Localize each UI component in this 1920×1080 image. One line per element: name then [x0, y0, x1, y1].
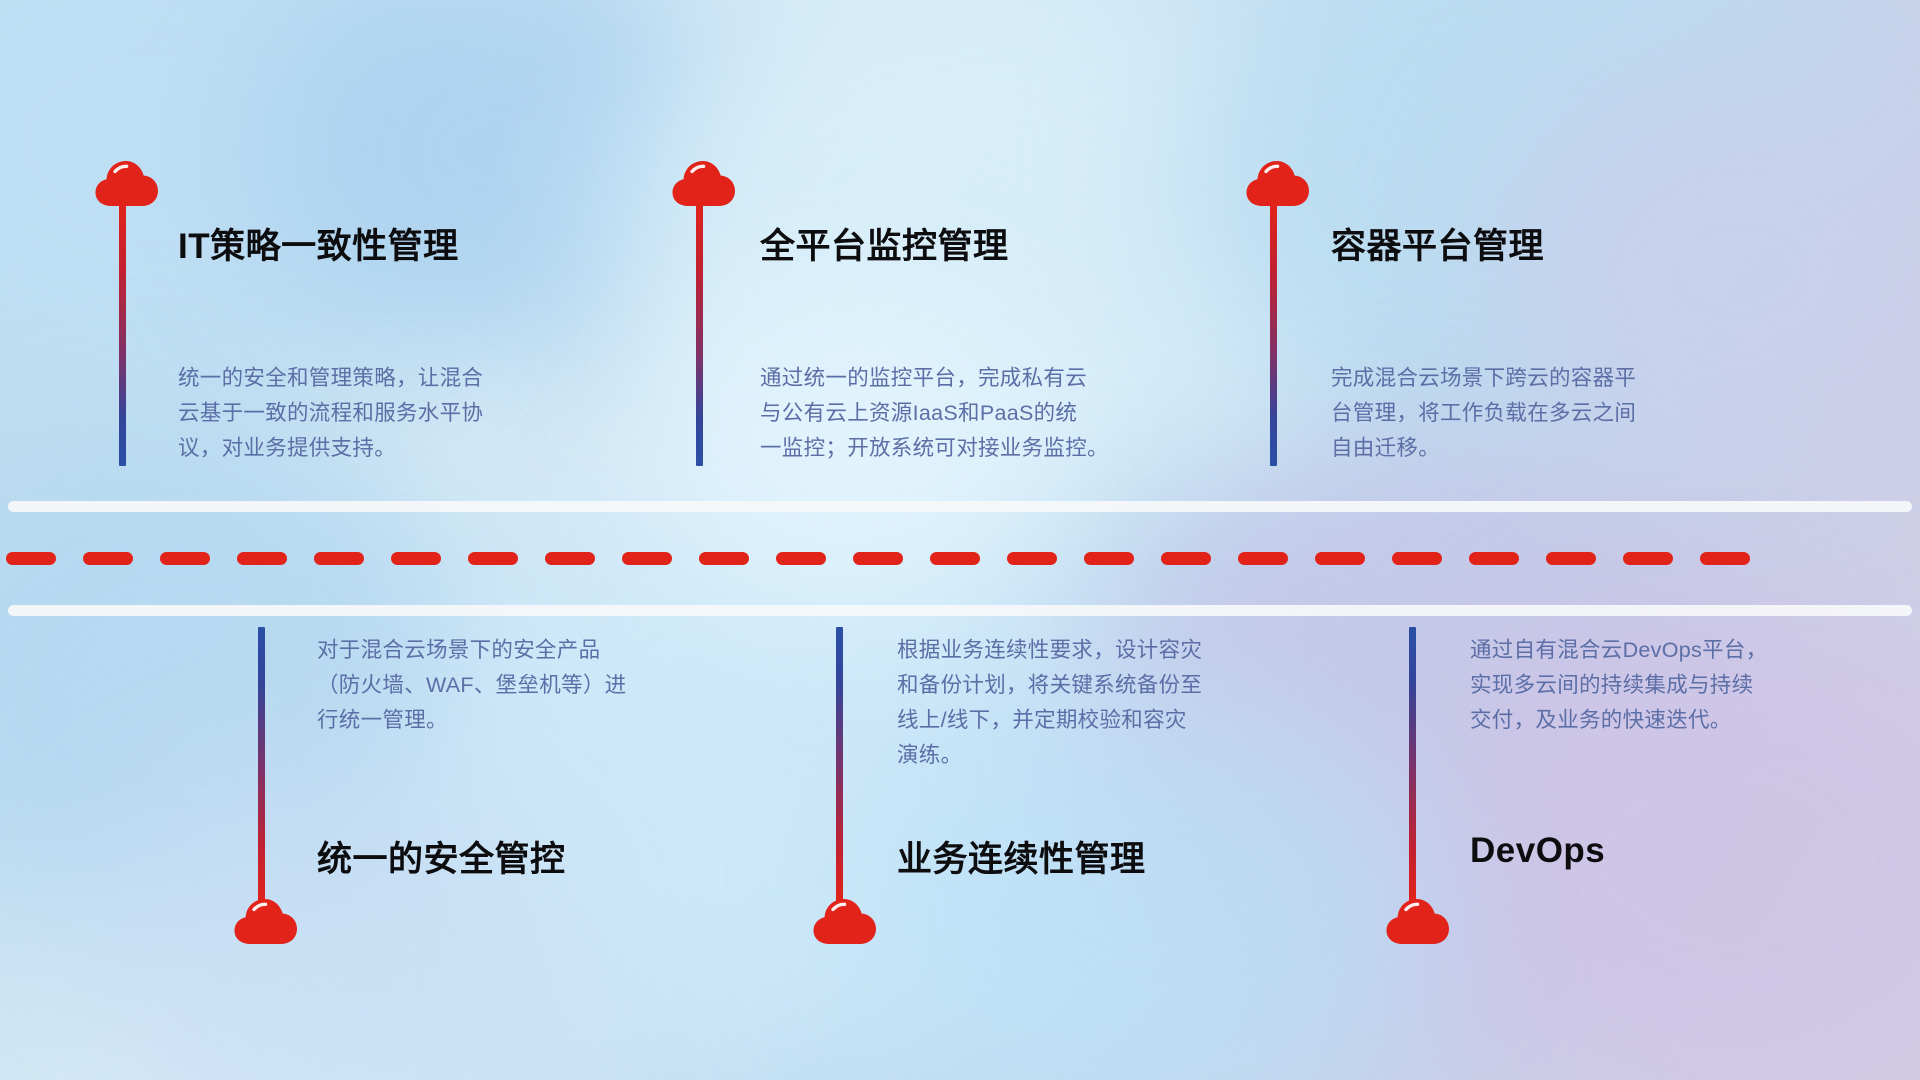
divider-dash	[1007, 552, 1057, 565]
cloud-icon	[812, 897, 878, 945]
top-item-3-description: 完成混合云场景下跨云的容器平 台管理，将工作负载在多云之间 自由迁移。	[1331, 361, 1761, 466]
divider-dash	[6, 552, 56, 565]
divider-dash	[1161, 552, 1211, 565]
top-item-3-heading: 容器平台管理	[1331, 218, 1544, 269]
top-item-2-heading: 全平台监控管理	[760, 218, 1009, 269]
divider-dash	[853, 552, 903, 565]
description-line: 完成混合云场景下跨云的容器平	[1331, 361, 1761, 396]
cloud-icon	[671, 159, 737, 207]
description-line: 交付，及业务的快速迭代。	[1470, 703, 1890, 738]
bottom-item-3-heading: DevOps	[1470, 831, 1605, 871]
connector-line	[1270, 203, 1277, 466]
divider-dash	[468, 552, 518, 565]
bottom-item-3-description: 通过自有混合云DevOps平台， 实现多云间的持续集成与持续 交付，及业务的快速…	[1470, 633, 1890, 738]
description-line: 一监控；开放系统可对接业务监控。	[760, 431, 1200, 466]
description-line: 线上/线下，并定期校验和容灾	[897, 703, 1317, 738]
connector-line	[836, 627, 843, 902]
cloud-icon	[233, 897, 299, 945]
description-line: 和备份计划，将关键系统备份至	[897, 668, 1317, 703]
bottom-item-1-heading: 统一的安全管控	[317, 831, 566, 882]
divider-rule-top	[8, 501, 1912, 512]
bottom-item-1-description: 对于混合云场景下的安全产品 （防火墙、WAF、堡垒机等）进 行统一管理。	[317, 633, 737, 738]
description-line: （防火墙、WAF、堡垒机等）进	[317, 668, 737, 703]
top-item-1-heading: IT策略一致性管理	[178, 218, 459, 269]
description-line: 与公有云上资源IaaS和PaaS的统	[760, 396, 1200, 431]
divider-dash	[1315, 552, 1365, 565]
infographic-canvas: IT策略一致性管理 统一的安全和管理策略，让混合 云基于一致的流程和服务水平协 …	[0, 0, 1920, 1080]
divider-dash	[1238, 552, 1288, 565]
divider-dash	[699, 552, 749, 565]
cloud-icon	[1385, 897, 1451, 945]
description-line: 通过统一的监控平台，完成私有云	[760, 361, 1200, 396]
divider-dash	[391, 552, 441, 565]
divider-dash	[776, 552, 826, 565]
divider-dash	[237, 552, 287, 565]
description-line: 根据业务连续性要求，设计容灾	[897, 633, 1317, 668]
description-line: 演练。	[897, 738, 1317, 773]
description-line: 自由迁移。	[1331, 431, 1761, 466]
divider-dash	[1546, 552, 1596, 565]
description-line: 对于混合云场景下的安全产品	[317, 633, 737, 668]
description-line: 云基于一致的流程和服务水平协	[178, 396, 598, 431]
connector-line	[119, 203, 126, 466]
description-line: 通过自有混合云DevOps平台，	[1470, 633, 1890, 668]
divider-dash	[545, 552, 595, 565]
connector-line	[696, 203, 703, 466]
top-item-2-description: 通过统一的监控平台，完成私有云 与公有云上资源IaaS和PaaS的统 一监控；开…	[760, 361, 1200, 466]
divider-dash	[1623, 552, 1673, 565]
bottom-item-2-description: 根据业务连续性要求，设计容灾 和备份计划，将关键系统备份至 线上/线下，并定期校…	[897, 633, 1317, 773]
connector-line	[1409, 627, 1416, 902]
bottom-item-2-heading: 业务连续性管理	[897, 831, 1146, 882]
divider-dash	[314, 552, 364, 565]
divider-dash	[1392, 552, 1442, 565]
description-line: 统一的安全和管理策略，让混合	[178, 361, 598, 396]
divider-dash	[1084, 552, 1134, 565]
description-line: 实现多云间的持续集成与持续	[1470, 668, 1890, 703]
divider-rule-bottom	[8, 605, 1912, 616]
divider-dashed-line	[0, 551, 1920, 565]
top-item-1-description: 统一的安全和管理策略，让混合 云基于一致的流程和服务水平协 议，对业务提供支持。	[178, 361, 598, 466]
description-line: 行统一管理。	[317, 703, 737, 738]
divider-dash	[622, 552, 672, 565]
description-line: 议，对业务提供支持。	[178, 431, 598, 466]
divider-dash	[930, 552, 980, 565]
connector-line	[258, 627, 265, 902]
divider-dash	[160, 552, 210, 565]
cloud-icon	[94, 159, 160, 207]
divider-dash	[1700, 552, 1750, 565]
divider-dash	[1469, 552, 1519, 565]
description-line: 台管理，将工作负载在多云之间	[1331, 396, 1761, 431]
cloud-icon	[1245, 159, 1311, 207]
divider-dash	[83, 552, 133, 565]
